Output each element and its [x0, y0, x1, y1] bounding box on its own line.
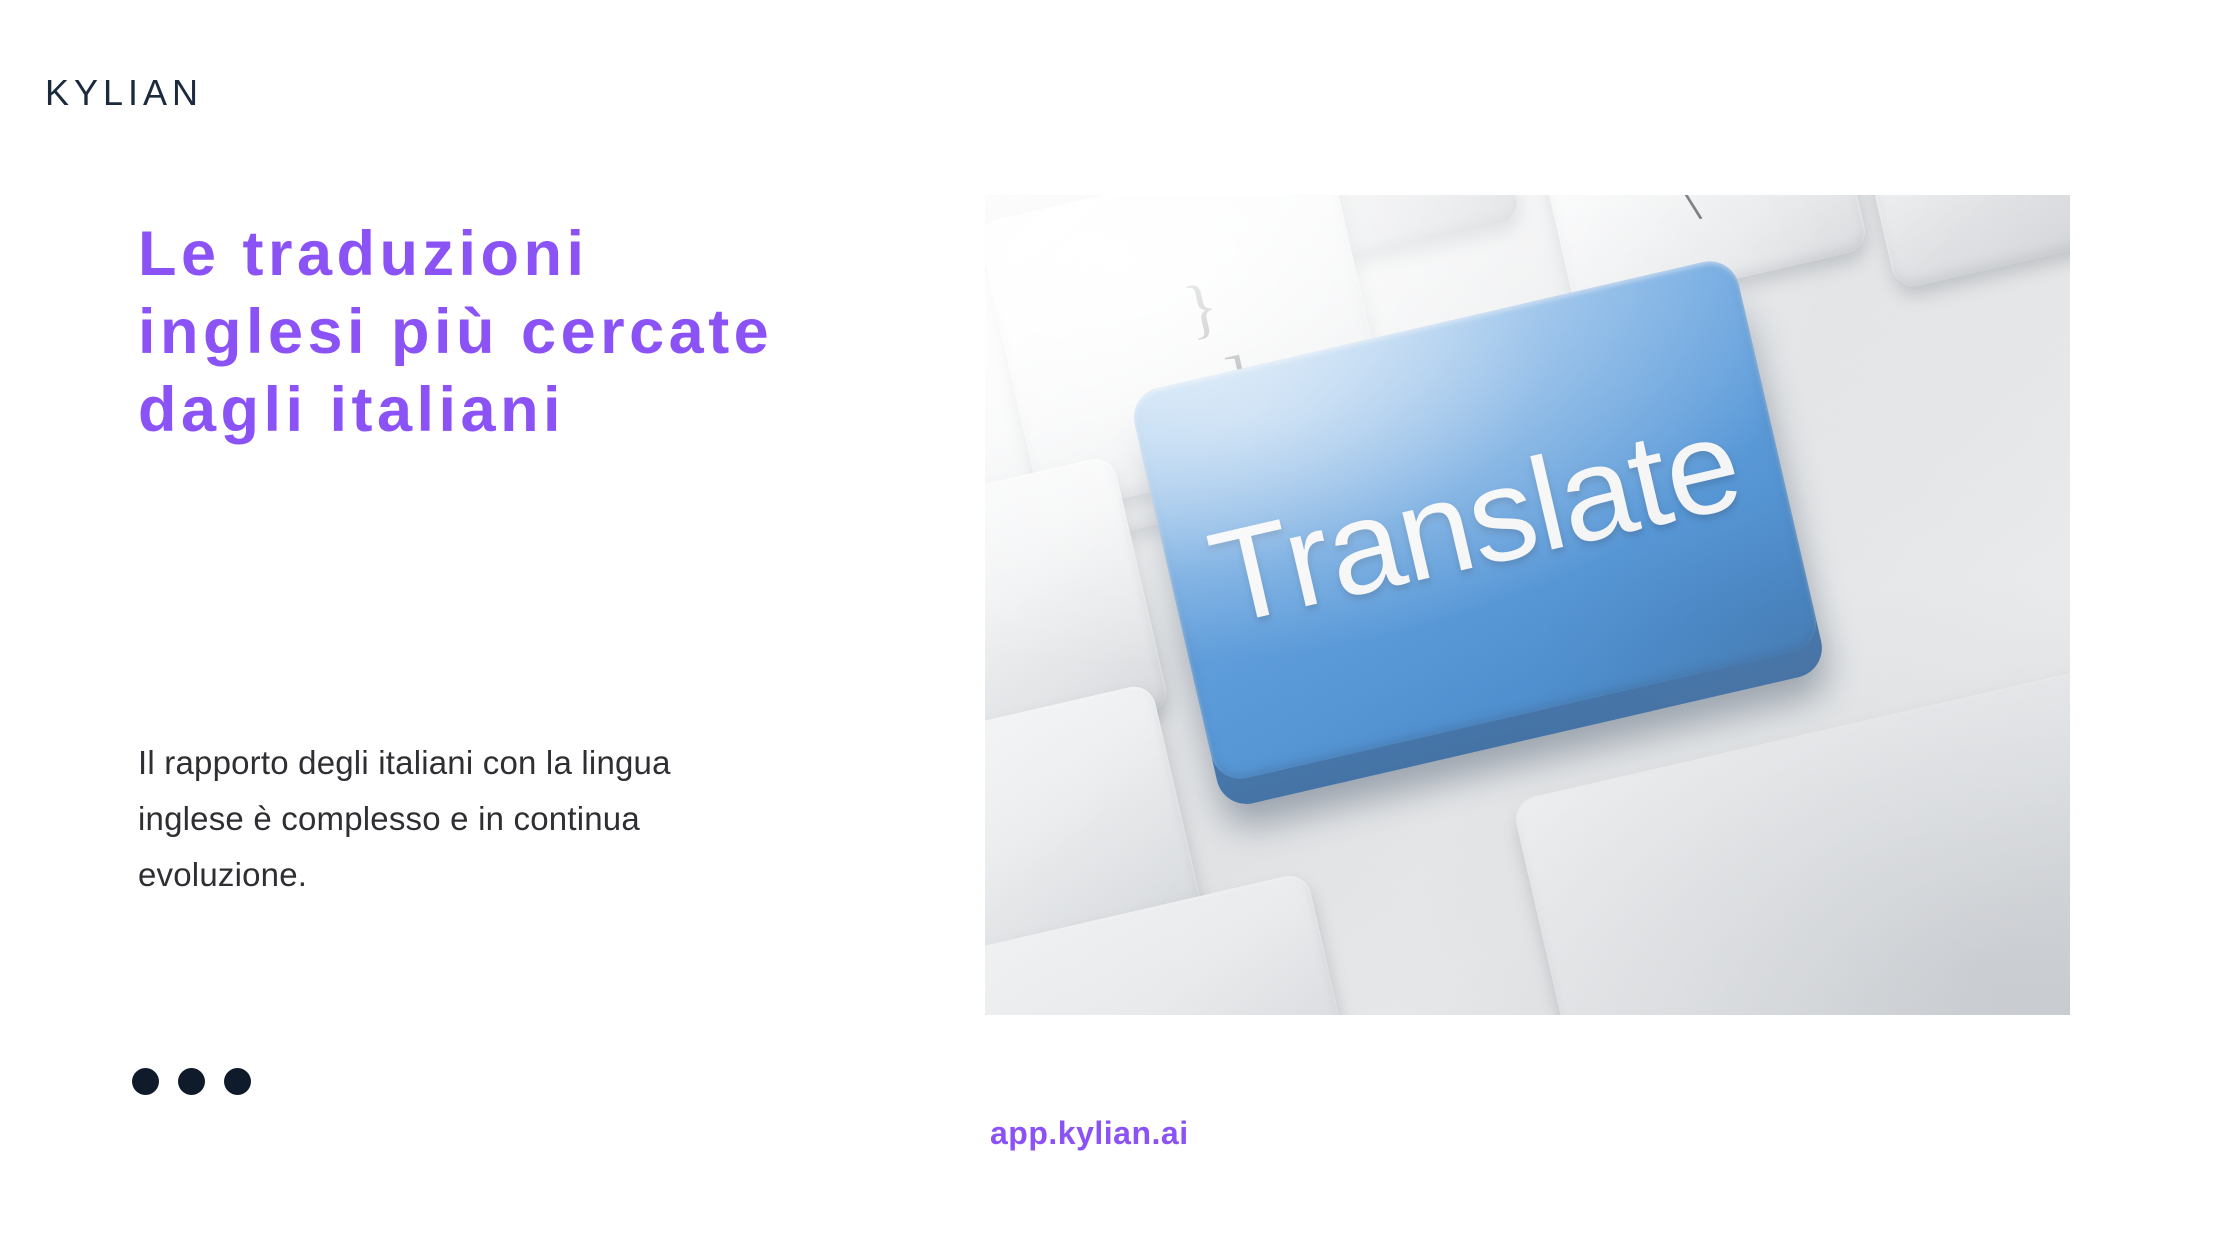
page-title: Le traduzioni inglesi più cercate dagli …	[138, 215, 938, 449]
slide-canvas: KYLIAN Le traduzioni inglesi più cercate…	[0, 0, 2240, 1260]
headline-line-1: Le traduzioni	[138, 215, 938, 293]
left-content-column: Le traduzioni inglesi più cercate dagli …	[0, 0, 985, 1260]
footer-url[interactable]: app.kylian.ai	[990, 1115, 1189, 1152]
body-line-1: Il rapporto degli italiani con la lingua	[138, 735, 868, 791]
dot-decoration	[132, 1068, 251, 1095]
body-line-3: evoluzione.	[138, 847, 868, 903]
decor-dot-2	[178, 1068, 205, 1095]
keyboard-lighting-overlay	[985, 195, 2070, 1015]
body-line-2: inglese è complesso e in continua	[138, 791, 868, 847]
headline-line-2: inglesi più cercate	[138, 293, 938, 371]
keyboard-photo: | \ } ] S	[985, 195, 2070, 1015]
decor-dot-3	[224, 1068, 251, 1095]
body-paragraph: Il rapporto degli italiani con la lingua…	[138, 735, 868, 903]
headline-line-3: dagli italiani	[138, 371, 938, 449]
decor-dot-1	[132, 1068, 159, 1095]
